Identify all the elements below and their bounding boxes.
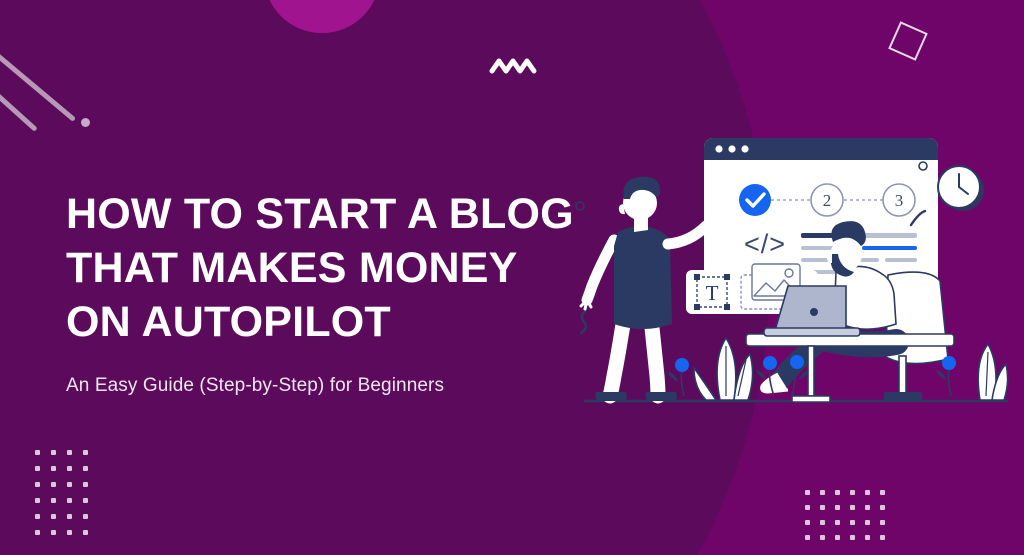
decor-swoosh-left <box>581 310 586 333</box>
browser-dot-3 <box>741 145 748 152</box>
step-1-complete <box>739 184 771 216</box>
blog-banner: HOW TO START A BLOG THAT MAKES MONEY ON … <box>0 0 1024 555</box>
plant-right <box>978 344 1007 400</box>
shooting-star-dot <box>81 118 90 127</box>
text-tool-glyph: T <box>706 281 719 305</box>
page-subtitle: An Easy Guide (Step-by-Step) for Beginne… <box>66 375 586 397</box>
wave-squiggle-icon <box>489 55 537 77</box>
dot-grid-right <box>805 490 895 550</box>
page-title: HOW TO START A BLOG THAT MAKES MONEY ON … <box>66 188 586 349</box>
dot-grid-left <box>35 450 99 546</box>
text-block: HOW TO START A BLOG THAT MAKES MONEY ON … <box>66 188 586 397</box>
browser-dot-1 <box>715 145 722 152</box>
decor-circle-left <box>576 202 584 210</box>
browser-dot-2 <box>728 145 735 152</box>
svg-text:</>: </> <box>744 229 786 259</box>
magenta-blob-shape <box>230 0 410 80</box>
hero-illustration: 2 3 </> <box>556 120 1024 420</box>
code-glyph-icon: </> <box>744 229 786 259</box>
plant-center <box>694 338 753 400</box>
step-3-label: 3 <box>895 191 904 210</box>
step-2-label: 2 <box>823 191 832 210</box>
wall-clock-icon <box>938 166 984 211</box>
